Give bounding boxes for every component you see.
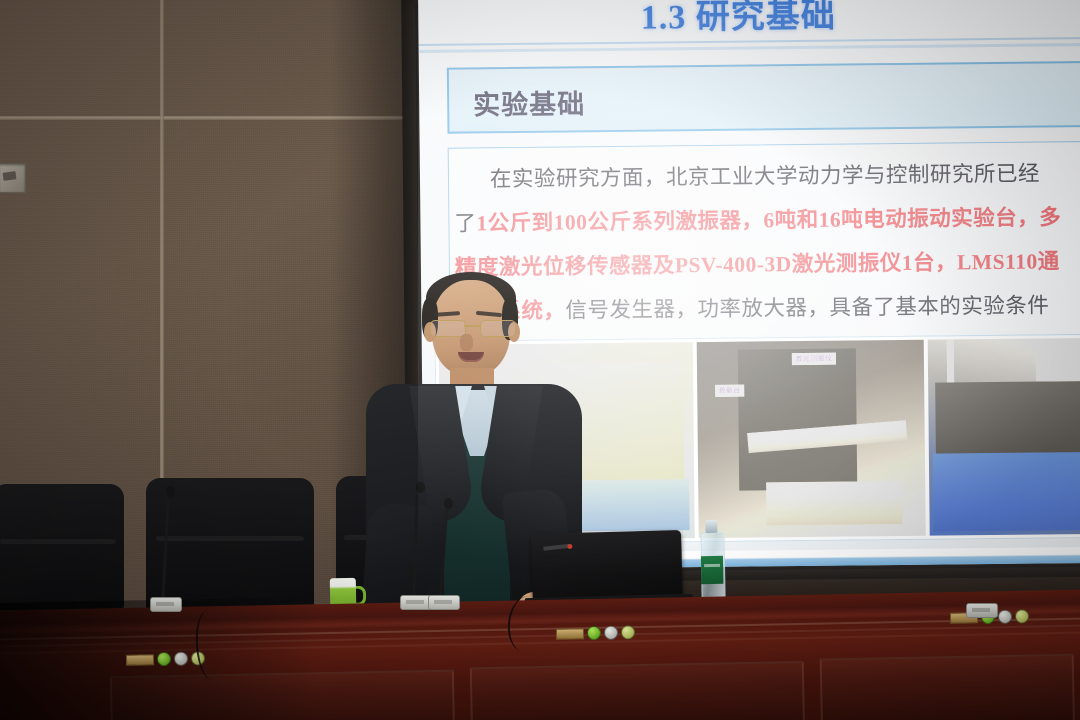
photo-table: [766, 481, 903, 526]
desk-button-white[interactable]: [174, 652, 188, 666]
slide-body-line: 在实验研究方面，北京工业大学动力学与控制研究所已经: [454, 150, 1080, 202]
microphone-base: [428, 595, 460, 610]
slide-title: 1.3 研究基础: [418, 0, 1058, 41]
slide-body-run: 1公斤到100公斤系列激振器，6吨和16吨电动振动实验台，多: [476, 205, 1061, 235]
desk-button-yellow[interactable]: [1015, 609, 1029, 623]
desk-panel: [470, 661, 805, 720]
microphone-stem: [412, 494, 419, 600]
photo-label: 激光测振仪: [792, 352, 836, 364]
slide-body-run: 在实验研究方面，北京工业大学动力学与控制研究所已经: [490, 161, 1040, 191]
desk-button-green[interactable]: [157, 652, 171, 666]
desk-control-panel-mid[interactable]: [556, 625, 635, 641]
microphone-base: [966, 603, 998, 618]
laptop-logo-dot-icon: [567, 544, 572, 549]
laptop-lid: [531, 530, 683, 602]
glasses-lens-right: [480, 320, 516, 337]
lecture-scene-photo: 1.3 研究基础 实验基础 在实验研究方面，北京工业大学动力学与控制研究所已经了…: [0, 0, 1080, 720]
slide-photo-test-rig: 激振台 激光测振仪: [697, 340, 926, 538]
microphone-head: [166, 486, 175, 497]
glasses-bridge: [464, 325, 480, 327]
desk-button-yellow[interactable]: [621, 625, 635, 639]
slide-subtitle-box: 实验基础: [447, 61, 1080, 134]
presenter-nose: [460, 334, 473, 351]
desk-button-white[interactable]: [604, 626, 618, 640]
microphone-head: [416, 482, 425, 493]
microphone-base: [150, 597, 182, 612]
bottle-cap: [705, 520, 717, 533]
desk-button-green[interactable]: [587, 626, 601, 640]
laptop[interactable]: [531, 530, 683, 608]
microphone: [424, 498, 460, 610]
wall-outlet-plate: [0, 163, 26, 193]
slide-body-line: 了1公斤到100公斤系列激振器，6吨和16吨电动振动实验台，多: [454, 194, 1080, 246]
chair: [0, 484, 124, 610]
desk-panel: [820, 654, 1075, 720]
laptop-logo-icon: [543, 544, 569, 551]
photo-blue-table: [933, 451, 1080, 531]
slide-photo-shaker: [928, 338, 1080, 536]
desk-button-white[interactable]: [998, 610, 1012, 624]
microphone-stem: [439, 508, 448, 600]
microphone: [966, 592, 998, 618]
desk-control-panel-left[interactable]: [126, 651, 205, 667]
desk-nameplate: [556, 628, 584, 640]
slide-subtitle-label: 实验基础: [473, 82, 585, 122]
desk-nameplate: [126, 654, 154, 666]
photo-dark-chamber: [738, 348, 858, 490]
bottle-label: [701, 556, 723, 584]
slide-body-run: 了: [454, 211, 476, 235]
microphone-stem: [161, 498, 169, 602]
microphone: [150, 486, 186, 612]
glasses-icon: [426, 320, 518, 336]
glasses-lens-left: [430, 320, 466, 337]
slide-body-run: 信号发生器，功率放大器，具备了基本的实验条件: [565, 293, 1049, 322]
water-bottle: [700, 520, 723, 602]
photo-label: 激振台: [715, 385, 744, 397]
